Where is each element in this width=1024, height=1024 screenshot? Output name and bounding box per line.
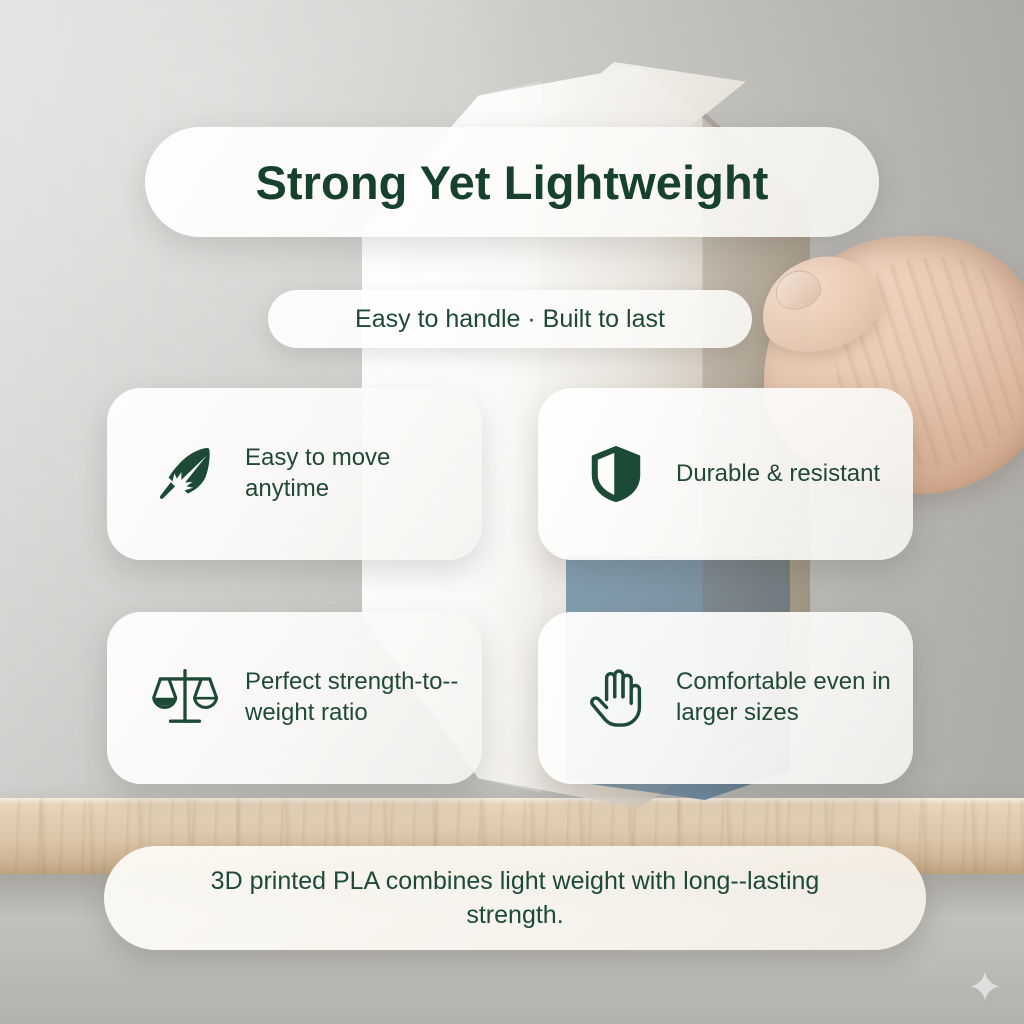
feature-card-easy-to-move[interactable]: Easy to move anytime xyxy=(107,388,482,560)
title-pill: Strong Yet Lightweight xyxy=(145,127,879,237)
feather-icon xyxy=(149,438,221,510)
feature-card-comfortable[interactable]: Comfortable even in larger sizes xyxy=(538,612,913,784)
page-subtitle: Easy to handle · Built to last xyxy=(355,305,665,334)
subtitle-pill: Easy to handle · Built to last xyxy=(268,290,752,348)
feature-card-strength-to-weight[interactable]: Perfect strength-to--weight ratio xyxy=(107,612,482,784)
page-title: Strong Yet Lightweight xyxy=(255,155,768,210)
feature-card-durable[interactable]: Durable & resistant xyxy=(538,388,913,560)
feature-label: Easy to move anytime xyxy=(245,443,460,504)
feature-label: Comfortable even in larger sizes xyxy=(676,667,891,728)
feature-label: Durable & resistant xyxy=(676,459,880,490)
footer-caption-pill: 3D printed PLA combines light weight wit… xyxy=(104,846,926,950)
sparkle-icon xyxy=(968,970,1002,1004)
promo-graphic: Strong Yet Lightweight Easy to handle · … xyxy=(0,0,1024,1024)
overlay-ui: Strong Yet Lightweight Easy to handle · … xyxy=(0,0,1024,1024)
shield-icon xyxy=(580,438,652,510)
feature-label: Perfect strength-to--weight ratio xyxy=(245,667,460,728)
open-hand-icon xyxy=(580,662,652,734)
balance-scales-icon xyxy=(149,662,221,734)
footer-caption: 3D printed PLA combines light weight wit… xyxy=(160,864,870,933)
